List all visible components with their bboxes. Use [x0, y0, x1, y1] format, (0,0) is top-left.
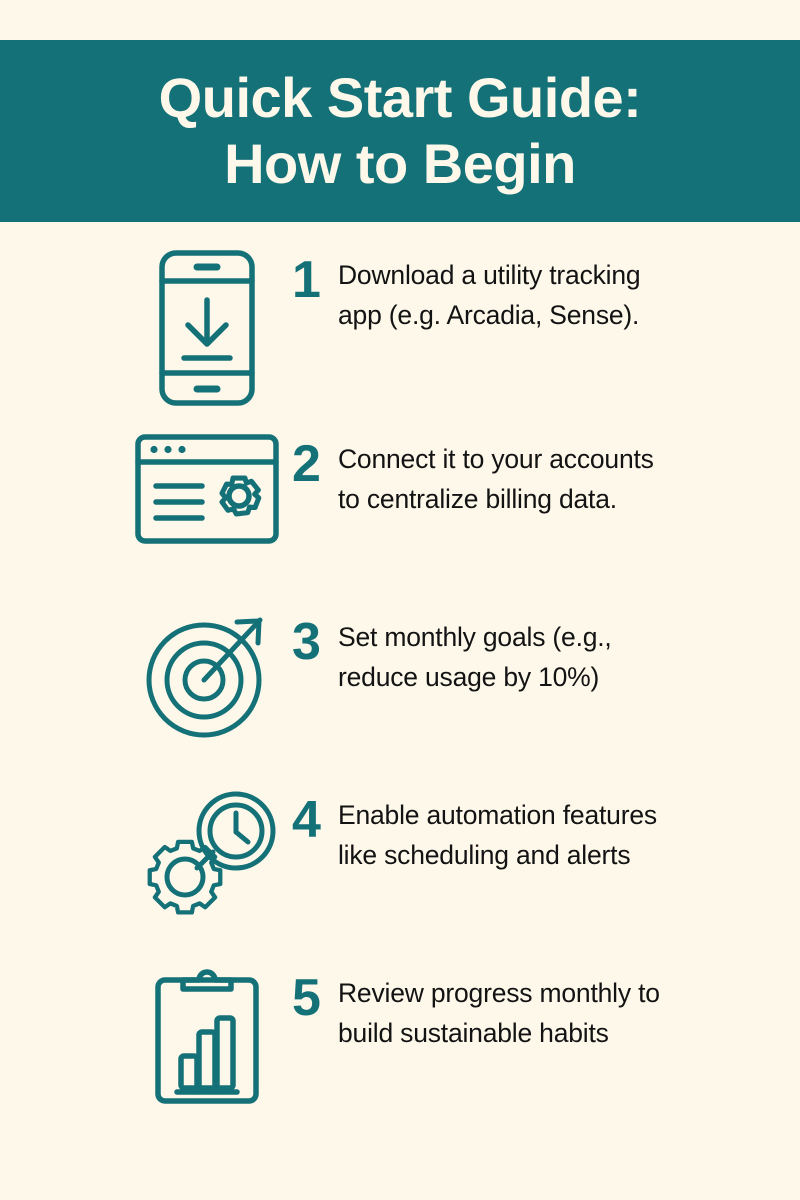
gear-clock-icon [122, 784, 292, 944]
step-item-1: 1 Download a utility tracking app (e.g. … [0, 244, 800, 404]
step-text-4: Enable automation features like scheduli… [338, 795, 668, 875]
steps-list: 1 Download a utility tracking app (e.g. … [0, 222, 800, 1200]
step-number-5: 5 [292, 970, 338, 1026]
step-text-5: Review progress monthly to build sustain… [338, 973, 668, 1053]
header-banner: Quick Start Guide: How to Begin [0, 40, 800, 222]
step-text-1: Download a utility tracking app (e.g. Ar… [338, 255, 668, 335]
step-item-5: 5 Review progress monthly to build susta… [0, 962, 800, 1122]
step-item-4: 4 Enable automation features like schedu… [0, 784, 800, 944]
step-text-3: Set monthly goals (e.g., reduce usage by… [338, 617, 668, 697]
infographic-root: Quick Start Guide: How to Begin 1 Downlo… [0, 0, 800, 1200]
step-number-1: 1 [292, 252, 338, 308]
step-number-4: 4 [292, 792, 338, 848]
target-arrow-icon [122, 606, 292, 766]
page-title: Quick Start Guide: How to Begin [159, 65, 642, 197]
step-text-2: Connect it to your accounts to centraliz… [338, 439, 668, 519]
step-item-3: 3 Set monthly goals (e.g., reduce usage … [0, 606, 800, 766]
step-item-2: 2 Connect it to your accounts to central… [0, 428, 800, 588]
clipboard-chart-icon [122, 962, 292, 1122]
phone-download-icon [122, 244, 292, 404]
step-number-3: 3 [292, 614, 338, 670]
step-number-2: 2 [292, 436, 338, 492]
browser-settings-icon [122, 428, 292, 588]
